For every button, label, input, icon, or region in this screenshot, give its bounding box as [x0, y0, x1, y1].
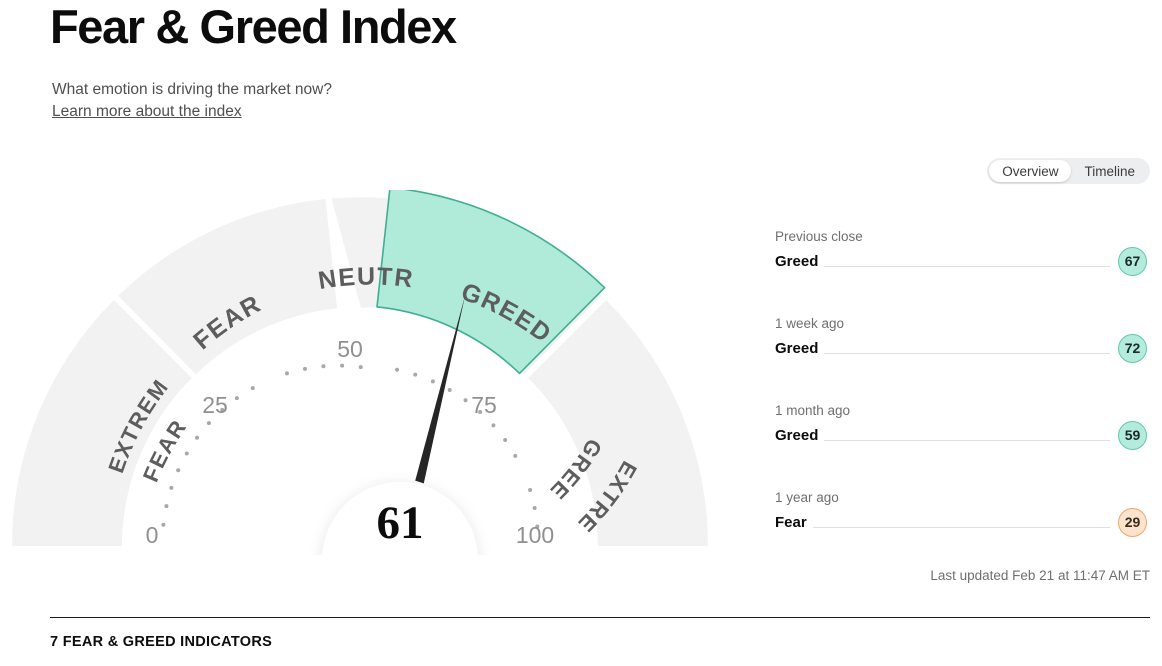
list-item[interactable]: Previous close Greed 67 [775, 228, 1147, 315]
list-item[interactable]: 1 week ago Greed 72 [775, 315, 1147, 402]
history-sentiment: Greed [775, 340, 818, 357]
leader-line [813, 527, 1110, 528]
history-period: 1 year ago [775, 489, 1147, 506]
learn-more-link[interactable]: Learn more about the index [52, 101, 242, 122]
tab-overview[interactable]: Overview [989, 160, 1071, 182]
last-updated-text: Last updated Feb 21 at 11:47 AM ET [930, 568, 1150, 583]
history-sentiment: Fear [775, 514, 807, 531]
gauge-tick-50: 50 [337, 336, 363, 362]
indicators-heading: 7 FEAR & GREED INDICATORS [50, 634, 272, 650]
page-title: Fear & Greed Index [50, 0, 456, 56]
history-sentiment: Greed [775, 427, 818, 444]
list-item[interactable]: 1 month ago Greed 59 [775, 402, 1147, 489]
gauge-tick-100: 100 [516, 522, 554, 548]
page-subtitle: What emotion is driving the market now? [52, 79, 332, 100]
history-period: 1 week ago [775, 315, 1147, 332]
status-badge: 29 [1118, 508, 1147, 537]
history-sentiment: Greed [775, 253, 818, 270]
gauge-tick-75: 75 [471, 392, 497, 418]
gauge-tick-25: 25 [202, 392, 228, 418]
history-list: Previous close Greed 67 1 week ago Greed… [775, 228, 1147, 576]
gauge-svg: EXTREME FEAR FEAR NEUTRAL GREED EXTREME [0, 190, 760, 555]
gauge-hub: 61 [322, 482, 478, 555]
leader-line [824, 353, 1110, 354]
fear-greed-gauge: EXTREME FEAR FEAR NEUTRAL GREED EXTREME [0, 190, 760, 555]
status-badge: 67 [1118, 247, 1147, 276]
fear-greed-page: Fear & Greed Index What emotion is drivi… [0, 0, 1162, 666]
gauge-tick-0: 0 [146, 522, 159, 548]
section-divider [50, 617, 1150, 618]
history-period: 1 month ago [775, 402, 1147, 419]
gauge-value: 61 [377, 497, 424, 549]
list-item[interactable]: 1 year ago Fear 29 [775, 489, 1147, 576]
status-badge: 72 [1118, 334, 1147, 363]
leader-line [824, 440, 1110, 441]
history-period: Previous close [775, 228, 1147, 245]
status-badge: 59 [1118, 421, 1147, 450]
tab-timeline[interactable]: Timeline [1071, 160, 1148, 182]
leader-line [824, 266, 1110, 267]
view-toggle[interactable]: Overview Timeline [987, 158, 1150, 184]
